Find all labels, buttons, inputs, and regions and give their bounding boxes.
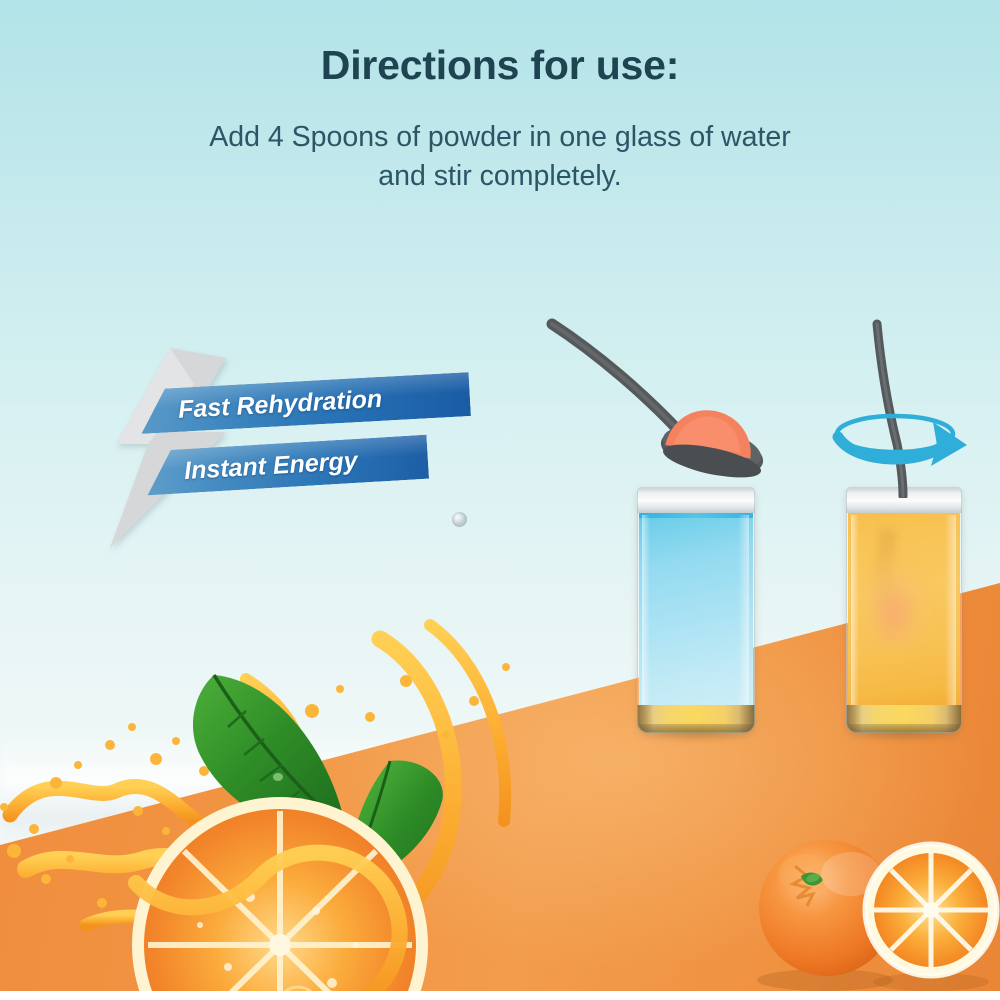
bottom-white-strip (0, 991, 1000, 1000)
water-liquid (639, 513, 753, 709)
heading-block: Directions for use: Add 4 Spoons of powd… (0, 0, 1000, 196)
glass-of-water-icon (637, 487, 755, 733)
instruction-line-1: Add 4 Spoons of powder in one glass of w… (0, 118, 1000, 157)
instruction-text: Add 4 Spoons of powder in one glass of w… (0, 118, 1000, 196)
directions-for-use-poster: Directions for use: Add 4 Spoons of powd… (0, 0, 1000, 1000)
badge-label: Fast Rehydration (177, 384, 382, 424)
spoon-powder-icon (540, 312, 770, 487)
orange-fruit-group (735, 812, 1000, 992)
glass-rim (637, 487, 755, 513)
juice-liquid (848, 513, 960, 709)
glass-highlight-left (851, 515, 859, 705)
glass-of-juice-icon (846, 487, 962, 733)
water-surface (639, 513, 753, 518)
juice-swirl (868, 556, 930, 646)
glass-shadow (851, 724, 958, 742)
bubble-icon (452, 512, 467, 527)
juice-splash-icon (0, 615, 580, 1000)
instruction-line-2: and stir completely. (0, 157, 1000, 196)
badge-label: Instant Energy (183, 446, 358, 485)
page-title: Directions for use: (0, 42, 1000, 89)
glass-highlight-left (642, 515, 650, 705)
benefit-badges: Fast Rehydration Instant Energy (108, 348, 488, 558)
circular-stir-arrow-icon (825, 318, 975, 498)
halved-orange-icon (865, 844, 997, 976)
glass-highlight-right (945, 515, 956, 705)
glass-highlight-right (738, 515, 749, 705)
glass-shadow (642, 724, 751, 742)
